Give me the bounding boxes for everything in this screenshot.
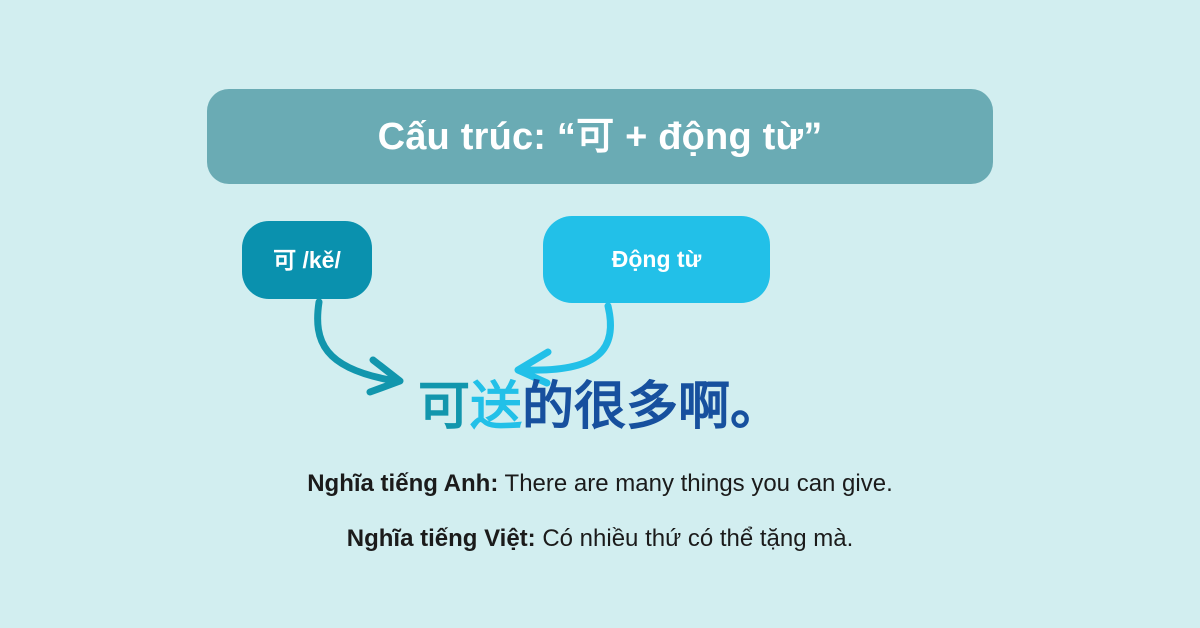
sentence-segment-ke: 可 — [418, 378, 470, 436]
meaning-vietnamese-value: Có nhiều thứ có thể tặng mà. — [542, 525, 853, 552]
infographic-canvas: Cấu trúc: “可 + động từ” 可 /kě/ Động từ 可… — [0, 0, 1200, 628]
meaning-english-value: There are many things you can give. — [505, 470, 893, 497]
curved-arrow-dongtu-icon — [518, 306, 611, 383]
example-sentence: 可送的很多啊。 — [0, 378, 1200, 438]
meaning-vietnamese: Nghĩa tiếng Việt: Có nhiều thứ có thể tặ… — [0, 525, 1200, 554]
sentence-segment-rest: 的很多啊。 — [522, 378, 782, 436]
term-label-dongtu: Động từ — [612, 248, 701, 271]
meaning-english: Nghĩa tiếng Anh: There are many things y… — [0, 470, 1200, 499]
title-banner: Cấu trúc: “可 + động từ” — [207, 89, 993, 184]
sentence-segment-song: 送 — [470, 378, 522, 436]
term-label-ke: 可 /kě/ — [273, 249, 341, 272]
page-title: Cấu trúc: “可 + động từ” — [378, 118, 823, 156]
term-box-dongtu: Động từ — [543, 216, 770, 303]
term-box-ke: 可 /kě/ — [242, 221, 372, 299]
meaning-english-label: Nghĩa tiếng Anh: — [307, 470, 498, 497]
meaning-vietnamese-label: Nghĩa tiếng Việt: — [347, 525, 536, 552]
